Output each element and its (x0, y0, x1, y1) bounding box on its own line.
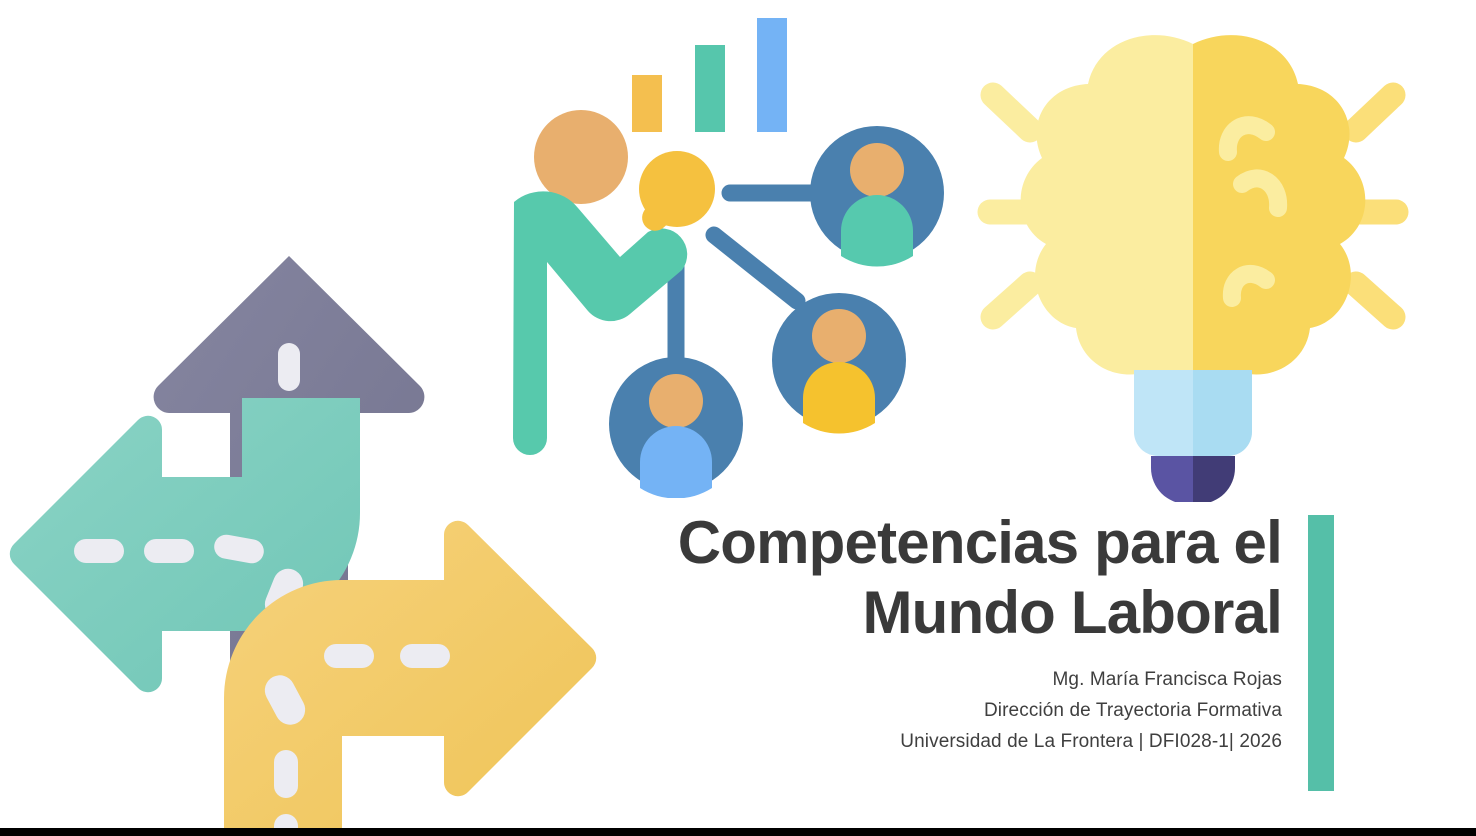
brain-left-lobe (1021, 35, 1193, 374)
bulb-cap-right (1193, 456, 1235, 502)
presentation-slide: Competencias para el Mundo Laboral Mg. M… (0, 0, 1476, 836)
bulb-rays-icon (990, 95, 1396, 317)
title-line-2: Mundo Laboral (862, 579, 1282, 646)
people-network-icon (452, 18, 952, 498)
road-arrow-left-teal (10, 398, 360, 692)
road-arrow-right-yellow (224, 521, 596, 836)
three-road-arrows-icon (0, 248, 602, 836)
bottom-edge-strip (0, 828, 1476, 836)
brain-folds-right (1228, 125, 1278, 298)
avatar-node-bottom-center (609, 357, 743, 498)
accent-bar (1308, 515, 1334, 791)
bar-chart-icon (632, 18, 787, 132)
bulb-cap-left (1151, 456, 1193, 502)
title-text-block: Competencias para el Mundo Laboral Mg. M… (560, 508, 1282, 757)
institution-course: Universidad de La Frontera | DFI028-1| 2… (560, 727, 1282, 758)
bulb-glass-right (1193, 370, 1252, 456)
page-title: Competencias para el Mundo Laboral (560, 508, 1282, 647)
network-connectors (676, 193, 822, 358)
title-line-1: Competencias para el (678, 509, 1282, 576)
avatar-node-bottom-right (772, 293, 906, 433)
brain-right-lobe (1193, 35, 1365, 374)
brain-folds (1120, 125, 1180, 298)
person-with-magnifier (513, 110, 715, 455)
department-name: Dirección de Trayectoria Formativa (560, 696, 1282, 727)
road-arrow-up-purple (154, 256, 425, 668)
brain-lightbulb-icon (948, 12, 1438, 502)
author-name: Mg. María Francisca Rojas (560, 665, 1282, 696)
subtitle-group: Mg. María Francisca Rojas Dirección de T… (560, 665, 1282, 757)
avatar-node-top-right (810, 126, 944, 266)
bulb-glass-left (1134, 370, 1193, 456)
